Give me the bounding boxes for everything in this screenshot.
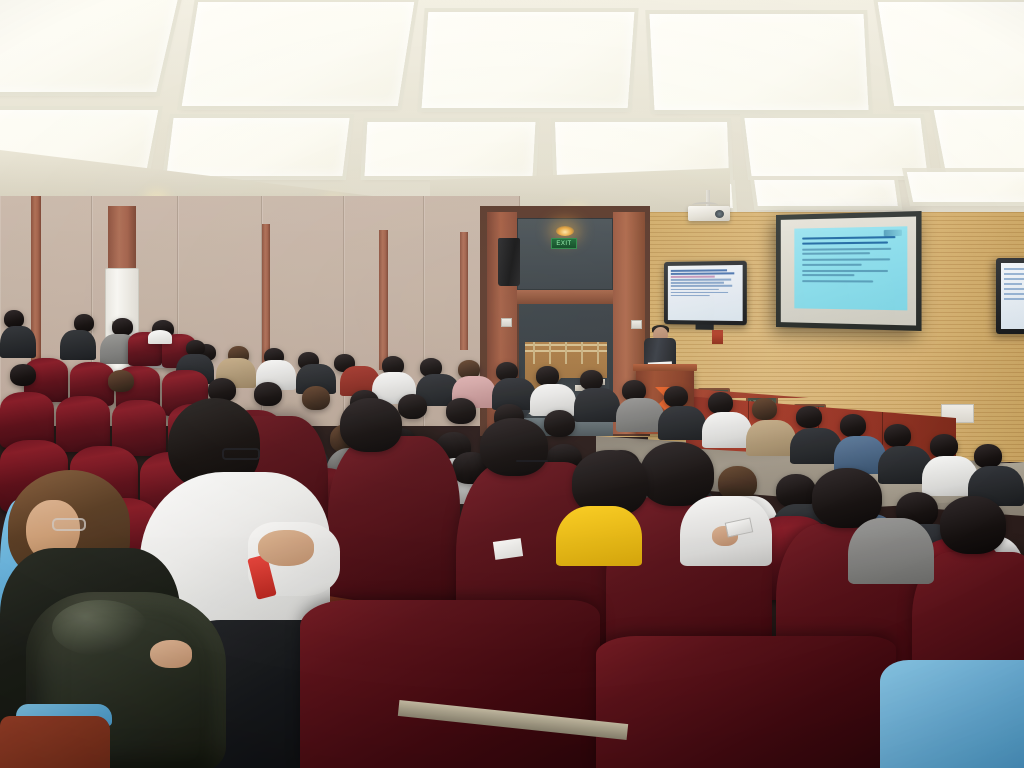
- audience-head: [718, 466, 757, 500]
- auditorium-seat: [300, 600, 600, 768]
- audience-torso: [702, 412, 752, 448]
- audience-head: [664, 386, 688, 407]
- ceiling-light-panel: [422, 12, 635, 108]
- ceiling-light-panel: [934, 110, 1024, 174]
- doorway-lamp: [556, 226, 574, 236]
- eyeglasses: [516, 460, 548, 462]
- audience-head: [940, 496, 1006, 554]
- ceiling-light-panel: [744, 118, 927, 176]
- exit-sign-label: EXIT: [556, 241, 571, 247]
- auditorium-seat: [880, 660, 1024, 768]
- audience-head: [480, 418, 548, 476]
- ceiling-light-panel: [0, 0, 184, 92]
- audience-head: [796, 406, 822, 428]
- ceiling-light-panel: [555, 122, 729, 176]
- audience-head: [930, 434, 958, 458]
- audience-head: [708, 392, 733, 414]
- seat-armrest: [0, 716, 110, 768]
- audience-head: [640, 442, 714, 506]
- slide-logo: [884, 230, 902, 237]
- audience-torso: [0, 326, 36, 358]
- foreground-man-hands: [258, 530, 314, 566]
- audience-head: [840, 414, 866, 437]
- audience-head: [10, 364, 36, 386]
- audience-head: [752, 398, 777, 420]
- ceiling-light-panel: [166, 118, 349, 176]
- ceiling-light-panel: [649, 14, 868, 110]
- yellow-hoodie-torso: [556, 506, 642, 566]
- note-paper: [493, 538, 523, 560]
- audience-head: [974, 444, 1002, 468]
- foreground-woman-hand: [150, 640, 192, 668]
- audience-torso: [658, 406, 706, 440]
- ceiling-projector: [688, 206, 730, 221]
- projector-lens: [715, 210, 724, 218]
- audience-torso: [574, 388, 620, 422]
- wall-wood-strip: [108, 206, 136, 272]
- audience-head: [884, 424, 911, 447]
- white-cap: [148, 330, 172, 344]
- ceiling-light-panel: [182, 2, 414, 106]
- wall-loudspeaker: [498, 238, 520, 286]
- audience-head: [446, 398, 476, 424]
- audience-head: [580, 370, 603, 390]
- ceiling-light-panel: [907, 172, 1024, 202]
- audience-head: [108, 370, 134, 392]
- audience-torso: [746, 420, 796, 456]
- auditorium-seat: [596, 636, 896, 768]
- exit-sign: EXIT: [551, 238, 577, 249]
- audience-head: [340, 398, 402, 452]
- projected-slide: [794, 226, 907, 310]
- audience-torso: [616, 398, 664, 432]
- ceiling-light-panel: [878, 2, 1024, 106]
- auditorium-seat: [56, 396, 110, 452]
- audience-head: [544, 410, 575, 437]
- audience-torso: [60, 330, 96, 360]
- audience-torso: [848, 518, 934, 584]
- audience-head: [536, 366, 559, 386]
- audience-head: [302, 386, 330, 410]
- audience-head: [398, 394, 427, 419]
- audience-head: [254, 382, 282, 406]
- eyeglasses: [222, 448, 260, 460]
- ceiling-light-panel: [365, 122, 536, 176]
- audience-head: [776, 474, 816, 508]
- eyeglasses: [52, 518, 86, 531]
- auditorium-photograph: EXIT: [0, 0, 1024, 768]
- bag-highlight: [52, 600, 148, 656]
- ceiling-light-panel: [754, 180, 898, 206]
